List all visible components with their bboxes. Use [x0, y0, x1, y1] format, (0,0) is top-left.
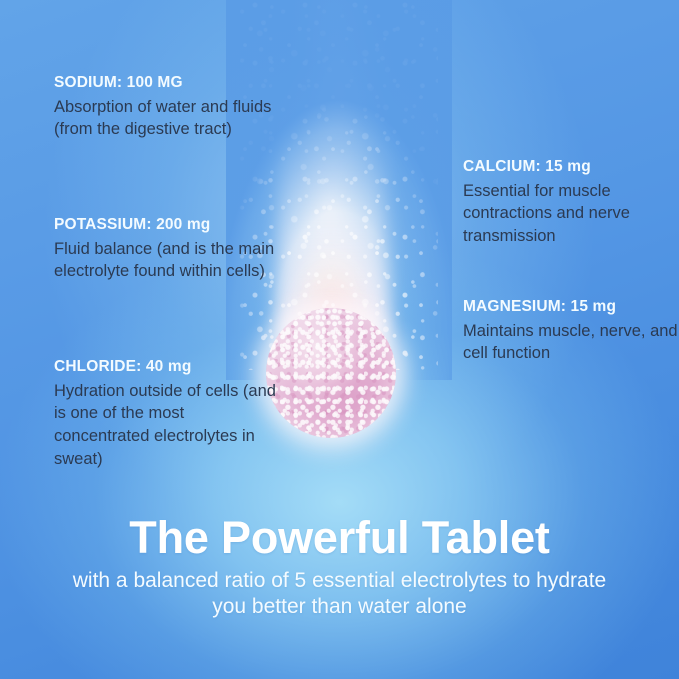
fact-sodium: SODIUM: 100 MG Absorption of water and f… — [54, 74, 284, 141]
bubble-plume-icon — [248, 0, 424, 382]
fact-chloride: CHLORIDE: 40 mg Hydration outside of cel… — [54, 358, 284, 471]
bubble-plume-pink-glow — [286, 236, 378, 346]
fact-potassium-heading: POTASSIUM: 200 mg — [54, 216, 284, 235]
fact-potassium: POTASSIUM: 200 mg Fluid balance (and is … — [54, 216, 284, 283]
bubble-speckle-layer-a — [238, 0, 438, 370]
fact-calcium: CALCIUM: 15 mg Essential for muscle cont… — [463, 158, 679, 248]
fact-magnesium-heading: MAGNESIUM: 15 mg — [463, 298, 679, 317]
product-infographic: SODIUM: 100 MG Absorption of water and f… — [0, 0, 679, 679]
fact-sodium-body: Absorption of water and fluids (from the… — [54, 96, 284, 142]
fact-potassium-body: Fluid balance (and is the main electroly… — [54, 238, 284, 284]
fact-magnesium-body: Maintains muscle, nerve, and cell functi… — [463, 320, 679, 366]
bubble-plume-column-icon — [276, 60, 388, 360]
plume-edge-fade — [226, 0, 452, 380]
page-title: The Powerful Tablet — [0, 514, 679, 562]
headline-subtitle: with a balanced ratio of 5 essential ele… — [60, 568, 620, 621]
fact-calcium-heading: CALCIUM: 15 mg — [463, 158, 679, 177]
headline-block: The Powerful Tablet with a balanced rati… — [0, 514, 679, 621]
tablet-texture — [266, 308, 396, 438]
effervescent-tablet-icon — [266, 308, 396, 438]
fact-sodium-heading: SODIUM: 100 MG — [54, 74, 284, 93]
fact-chloride-heading: CHLORIDE: 40 mg — [54, 358, 284, 377]
fact-calcium-body: Essential for muscle contractions and ne… — [463, 180, 679, 248]
fact-magnesium: MAGNESIUM: 15 mg Maintains muscle, nerve… — [463, 298, 679, 365]
fact-chloride-body: Hydration outside of cells (and is one o… — [54, 380, 284, 471]
tablet-body — [266, 308, 396, 438]
bubble-speckle-layer-b — [246, 20, 432, 360]
bubble-plume-warm-glow — [288, 196, 374, 346]
